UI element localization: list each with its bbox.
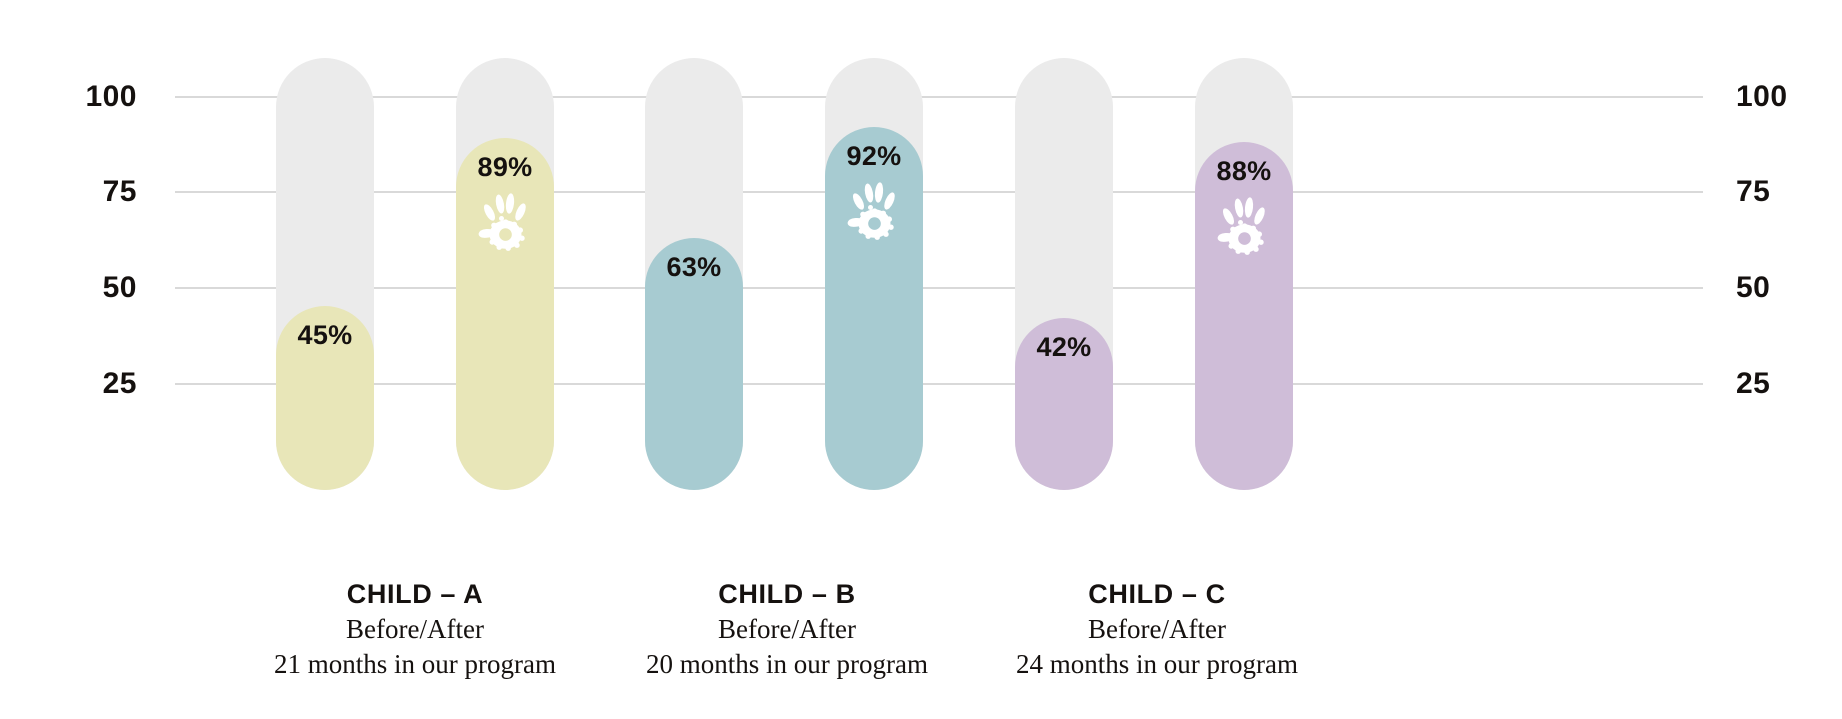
bar-slot-child-a-after[interactable]: 89% (456, 0, 554, 490)
caption-title: CHILD – C (947, 578, 1367, 612)
bar-fill[interactable]: 88% (1195, 142, 1293, 490)
bar-fill[interactable]: 42% (1015, 318, 1113, 490)
bar-value-label: 45% (276, 320, 374, 351)
handprint-icon (1214, 194, 1274, 256)
caption-subtitle-2: 20 months in our program (577, 647, 997, 682)
bar-fill[interactable]: 63% (645, 238, 743, 490)
caption-subtitle-2: 21 months in our program (205, 647, 625, 682)
bar-value-label: 88% (1195, 156, 1293, 187)
bar-slot-child-a-before[interactable]: 45% (276, 0, 374, 490)
bar-value-label: 42% (1015, 332, 1113, 363)
caption-child-c: CHILD – C Before/After 24 months in our … (947, 578, 1367, 682)
handprint-icon (475, 190, 535, 252)
bar-slot-child-b-before[interactable]: 63% (645, 0, 743, 490)
bar-slot-child-c-after[interactable]: 88% (1195, 0, 1293, 490)
caption-subtitle-2: 24 months in our program (947, 647, 1367, 682)
bar-fill[interactable]: 89% (456, 138, 554, 490)
caption-title: CHILD – B (577, 578, 997, 612)
bar-slot-child-b-after[interactable]: 92% (825, 0, 923, 490)
bar-value-label: 89% (456, 152, 554, 183)
caption-subtitle-1: Before/After (947, 612, 1367, 647)
handprint-icon (844, 179, 904, 241)
bar-value-label: 92% (825, 141, 923, 172)
bar-value-label: 63% (645, 252, 743, 283)
caption-child-a: CHILD – A Before/After 21 months in our … (205, 578, 625, 682)
bar-fill[interactable]: 45% (276, 306, 374, 490)
bar-fill[interactable]: 92% (825, 127, 923, 490)
bar-chart: 100 75 50 25 100 75 50 25 45% 89% (0, 0, 1842, 719)
caption-subtitle-1: Before/After (205, 612, 625, 647)
bar-slot-child-c-before[interactable]: 42% (1015, 0, 1113, 490)
caption-child-b: CHILD – B Before/After 20 months in our … (577, 578, 997, 682)
caption-subtitle-1: Before/After (577, 612, 997, 647)
caption-title: CHILD – A (205, 578, 625, 612)
